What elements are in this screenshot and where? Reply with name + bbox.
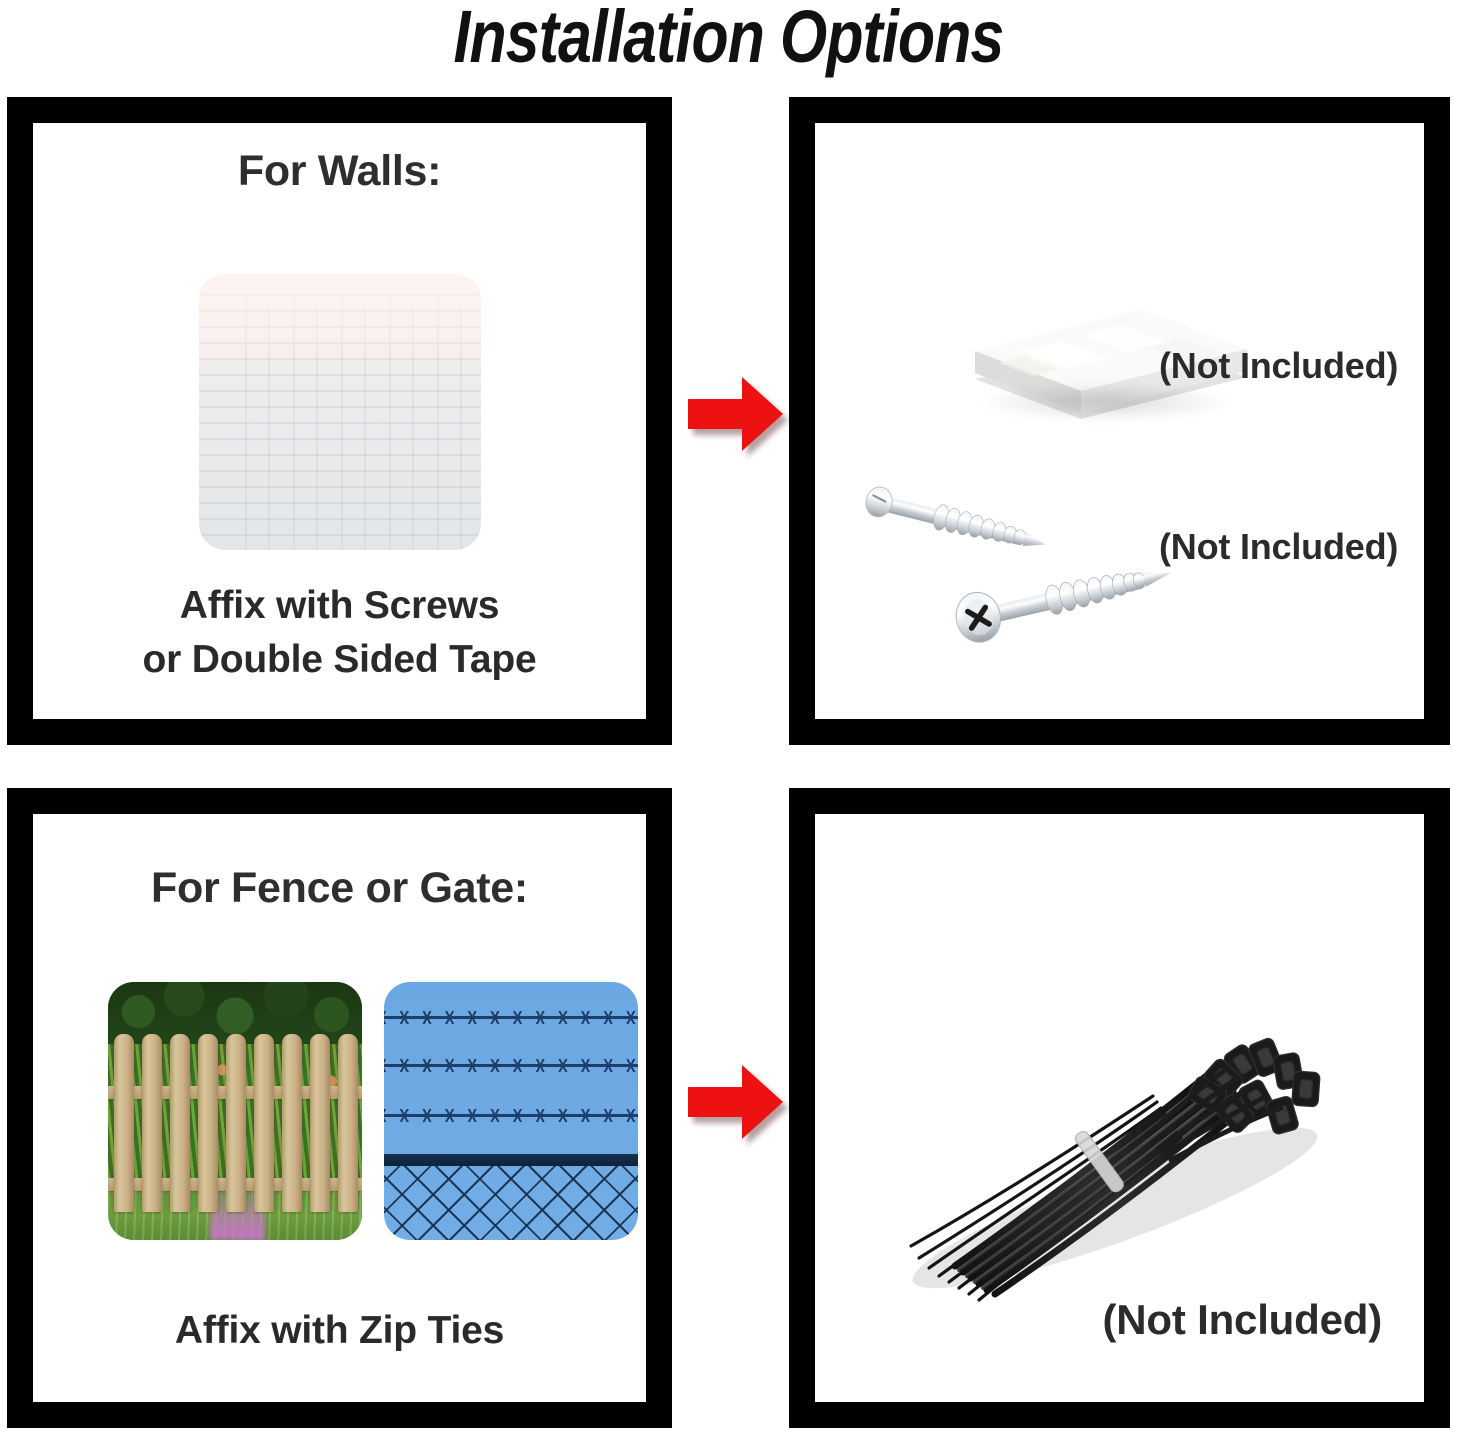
panel-wall-hardware: (Not Included) [789,97,1450,745]
fence-picket [254,1034,274,1212]
fence-picket [338,1034,358,1212]
panel-for-fence-or-gate: For Fence or Gate: [7,788,672,1428]
barbed-wire-chain-link-fence-photo [384,982,638,1240]
barbed-wire-strand [384,1064,638,1067]
screws-drawing [851,471,1211,671]
for-fence-heading: For Fence or Gate: [33,864,646,913]
barbed-wire-strand [384,1114,638,1117]
chain-link-mesh [384,1166,638,1240]
caption-line-1: Affix with Zip Ties [33,1304,646,1358]
panel-fence-hardware: (Not Included) [789,788,1450,1428]
page-title: Installation Options [131,0,1326,79]
white-brick-wall-photo [199,274,481,550]
fence-picket [114,1034,134,1212]
installation-options-infographic: Installation Options For Walls: Affix wi… [0,0,1457,1434]
caption-line-2: or Double Sided Tape [33,633,646,687]
for-walls-heading: For Walls: [33,147,646,196]
tape-shadow [981,383,1231,421]
fence-picket [226,1034,246,1212]
zip-ties-drawing [853,946,1373,1346]
fence-picket [198,1034,218,1212]
fence-top-rail [384,1154,638,1166]
photo-sheen [199,274,481,550]
zip-ties-not-included-label: (Not Included) [1103,1296,1383,1344]
fence-picket [310,1034,330,1212]
red-right-arrow-icon [688,1063,784,1141]
barbed-wire-strand [384,1016,638,1019]
wooden-picket-fence-photo [108,982,362,1240]
red-right-arrow-icon [688,375,784,453]
fence-picket [142,1034,162,1212]
caption-line-1: Affix with Screws [33,579,646,633]
fence-picket [282,1034,302,1212]
black-zip-ties-bundle-photo [853,946,1373,1346]
wood-screws-photo [851,471,1211,671]
fence-picket [170,1034,190,1212]
screws-not-included-label: (Not Included) [1159,526,1398,568]
tape-not-included-label: (Not Included) [1159,345,1398,387]
for-fence-caption: Affix with Zip Ties [33,1304,646,1358]
for-walls-caption: Affix with Screws or Double Sided Tape [33,579,646,687]
panel-for-walls: For Walls: Affix with Screws or Double S… [7,97,672,745]
